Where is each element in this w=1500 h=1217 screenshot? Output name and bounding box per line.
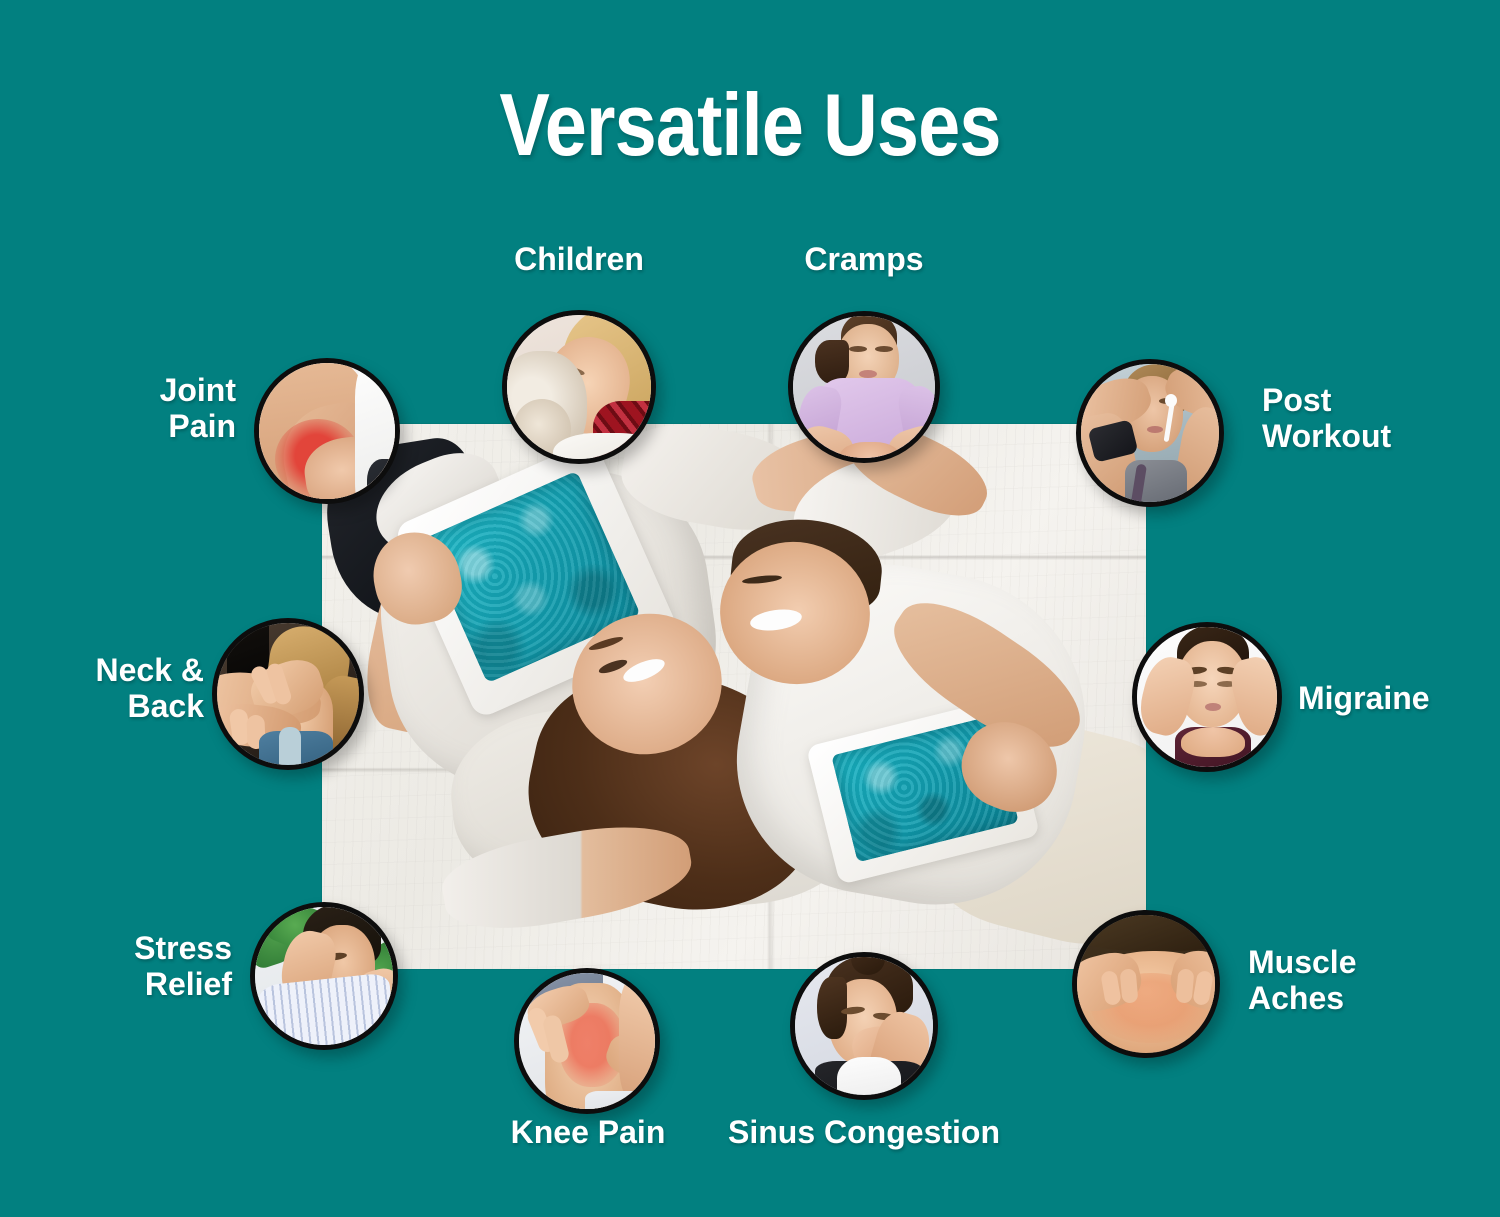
use-image-muscle-aches[interactable] [1072,910,1220,1058]
use-label-stress-relief: Stress Relief [70,930,232,1003]
hero-product-photo [322,424,1146,969]
use-image-migraine[interactable] [1132,622,1282,772]
use-label-post-workout: Post Workout [1262,382,1462,455]
infographic-canvas: Versatile Uses [0,0,1500,1217]
use-label-cramps: Cramps [734,241,994,277]
use-image-cramps[interactable] [788,311,940,463]
use-label-joint-pain: Joint Pain [96,372,236,445]
use-image-sinus-congestion[interactable] [790,952,938,1100]
use-label-neck-and-back: Neck & Back [48,652,204,725]
use-image-stress-relief[interactable] [250,902,398,1050]
use-image-knee-pain[interactable] [514,968,660,1114]
use-label-sinus-congestion: Sinus Congestion [694,1114,1034,1150]
use-label-migraine: Migraine [1298,680,1498,716]
use-image-post-workout[interactable] [1076,359,1224,507]
page-title: Versatile Uses [105,74,1395,176]
use-image-neck-and-back[interactable] [212,618,364,770]
use-label-children: Children [449,241,709,277]
use-label-knee-pain: Knee Pain [466,1114,710,1150]
use-image-children[interactable] [502,310,656,464]
use-label-muscle-aches: Muscle Aches [1248,944,1458,1017]
use-image-joint-pain[interactable] [254,358,400,504]
